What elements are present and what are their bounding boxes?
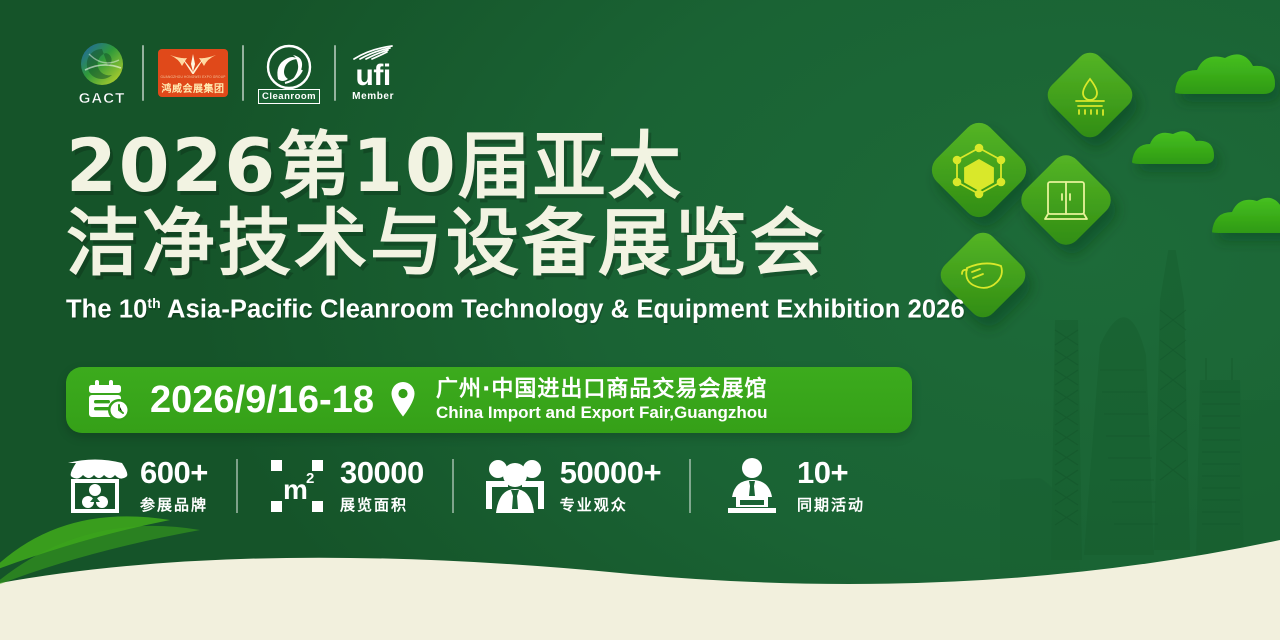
stat-label: 同期活动 xyxy=(797,494,865,515)
main-title-line2: 洁净技术与设备展览会 xyxy=(66,205,965,282)
exhibition-banner: GACT GUANGZHOU HONGWEI EXPO GROUP 鸿威会展集团 xyxy=(0,0,1280,640)
date-venue-bar: 2026/9/16-18 广州·中国进出口商品交易会展馆 China Impor… xyxy=(66,367,912,433)
cabinet-icon xyxy=(1015,149,1117,251)
logo-bar: GACT GUANGZHOU HONGWEI EXPO GROUP 鸿威会展集团 xyxy=(62,36,410,110)
title-block: 2026第10届亚太 洁净技术与设备展览会 The 10th Asia-Paci… xyxy=(66,128,965,324)
english-title: The 10th Asia-Pacific Cleanroom Technolo… xyxy=(66,295,965,325)
calendar-clock-icon xyxy=(86,376,136,424)
cloud-shape xyxy=(1212,198,1280,233)
stat-item-events: 10+ 同期活动 xyxy=(719,455,865,517)
stat-label: 展览面积 xyxy=(340,494,424,515)
event-date: 2026/9/16-18 xyxy=(150,381,374,419)
stat-item-area: m 2 30000 展览面积 xyxy=(266,455,424,517)
stat-label: 专业观众 xyxy=(560,494,661,515)
hongwei-wings-icon xyxy=(168,52,218,74)
stat-item-visitors: 50000+ 专业观众 xyxy=(482,455,661,517)
cloud-shape xyxy=(1175,54,1275,94)
stats-row: 600+ 参展品牌 m 2 30000 展览面积 xyxy=(62,450,865,522)
cleanroom-logo-text: Cleanroom xyxy=(258,89,320,104)
stat-divider xyxy=(452,459,454,513)
visitors-group-icon xyxy=(482,455,548,517)
hongwei-expo-group-logo[interactable]: GUANGZHOU HONGWEI EXPO GROUP 鸿威会展集团 xyxy=(144,37,242,109)
gact-logo-text: GACT xyxy=(79,90,126,107)
svg-text:m: m xyxy=(283,474,308,505)
ufi-member-text: Member xyxy=(352,91,394,102)
stat-divider xyxy=(236,459,238,513)
ufi-logo-text: ufi xyxy=(356,62,391,91)
stat-item-brands: 600+ 参展品牌 xyxy=(62,455,208,517)
svg-text:2: 2 xyxy=(306,470,314,487)
cloud-shape xyxy=(1132,131,1214,164)
stat-number: 30000 xyxy=(340,457,424,488)
venue-block: 广州·中国进出口商品交易会展馆 China Import and Export … xyxy=(436,378,768,422)
guangzhou-skyline-silhouette xyxy=(1000,240,1280,570)
water-filter-icon xyxy=(1042,47,1138,143)
ufi-member-logo[interactable]: ufi Member xyxy=(336,37,410,109)
stat-number: 50000+ xyxy=(560,457,661,488)
bottom-cream-wave xyxy=(0,516,1280,640)
venue-name-en: China Import and Export Fair,Guangzhou xyxy=(436,403,768,423)
speaker-laptop-icon xyxy=(719,455,785,517)
map-pin-icon xyxy=(388,379,418,421)
english-title-post: Asia-Pacific Cleanroom Technology & Equi… xyxy=(161,295,965,323)
gact-globe-icon xyxy=(76,40,128,92)
square-meter-icon: m 2 xyxy=(266,455,328,517)
cleanroom-logo[interactable]: Cleanroom xyxy=(244,37,334,109)
stat-label: 参展品牌 xyxy=(140,494,208,515)
hongwei-chinese-text: 鸿威会展集团 xyxy=(162,80,225,95)
stat-number: 10+ xyxy=(797,457,865,488)
gact-logo[interactable]: GACT xyxy=(62,37,142,109)
hongwei-english-text: GUANGZHOU HONGWEI EXPO GROUP xyxy=(160,75,225,79)
english-title-pre: The 10 xyxy=(66,295,147,323)
exhibition-booth-icon xyxy=(62,455,128,517)
english-title-ordinal: th xyxy=(147,295,160,311)
venue-name-cn: 广州·中国进出口商品交易会展馆 xyxy=(436,378,768,403)
stat-number: 600+ xyxy=(140,457,208,488)
main-title-line1: 2026第10届亚太 xyxy=(66,128,965,205)
cleanroom-circle-icon xyxy=(263,43,315,95)
stat-divider xyxy=(689,459,691,513)
